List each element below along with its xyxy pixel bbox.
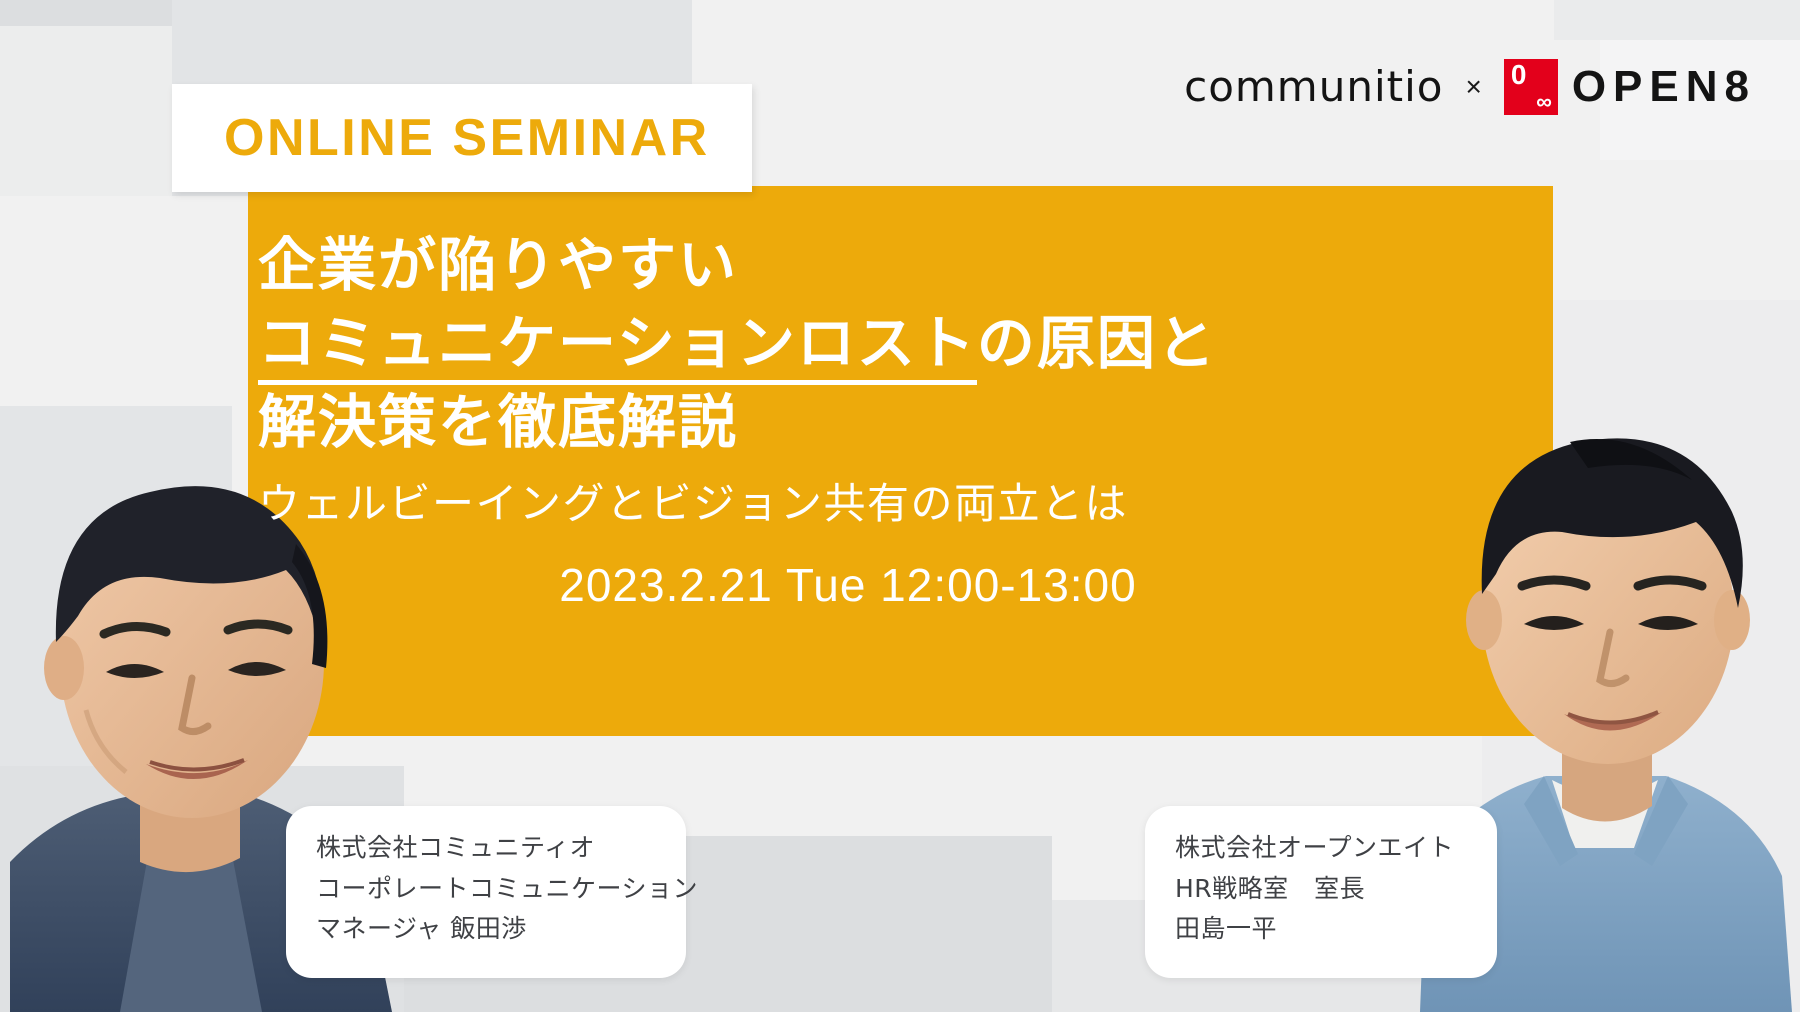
online-seminar-ribbon: ONLINE SEMINAR [172,84,752,192]
speaker-right-company: 株式会社オープンエイト [1175,828,1467,869]
speaker-left-name: マネージャ 飯田渉 [316,909,656,950]
speaker-card-right: 株式会社オープンエイト HR戦略室 室長 田島一平 [1145,806,1497,978]
open8-logo: 0 ∞ OPEN8 [1504,59,1756,115]
background-panel-top-left-inner [0,26,172,196]
seminar-banner: ONLINE SEMINAR communitio × 0 ∞ OPEN8 企業… [0,0,1800,1012]
open8-mark-icon: 0 ∞ [1504,59,1558,115]
title-line-3: 解決策を徹底解説 [258,383,1548,461]
logo-separator-x-icon: × [1463,73,1483,101]
open8-mark-infinity-icon: ∞ [1536,91,1552,113]
speaker-left-department: コーポレートコミュニケーション [316,869,656,910]
speaker-card-left: 株式会社コミュニティオ コーポレートコミュニケーション マネージャ 飯田渉 [286,806,686,978]
open8-mark-zero: 0 [1511,61,1527,89]
datetime: 2023.2.21 Tue 12:00-13:00 [258,558,1438,612]
communitio-logo: communitio [1184,66,1443,108]
subtitle: ウェルビーイングとビジョン共有の両立とは [258,475,1548,534]
background-panel-top-left-strip [0,0,172,26]
title-keyword-underlined: コミュニケーションロスト [258,309,977,385]
speaker-left-company: 株式会社コミュニティオ [316,828,656,869]
online-seminar-label: ONLINE SEMINAR [224,112,710,164]
open8-logo-text: OPEN8 [1572,65,1756,109]
logo-row: communitio × 0 ∞ OPEN8 [1184,56,1756,118]
speaker-right-department: HR戦略室 室長 [1175,869,1467,910]
background-panel-top-right [1554,0,1800,40]
title-line-2: コミュニケーションロストの原因と [258,304,1548,382]
speaker-right-name: 田島一平 [1175,909,1467,950]
title-area: 企業が陥りやすい コミュニケーションロストの原因と 解決策を徹底解説 ウェルビー… [258,226,1548,612]
title-line-2-rest: の原因と [977,309,1217,377]
title-line-1: 企業が陥りやすい [258,226,1548,304]
